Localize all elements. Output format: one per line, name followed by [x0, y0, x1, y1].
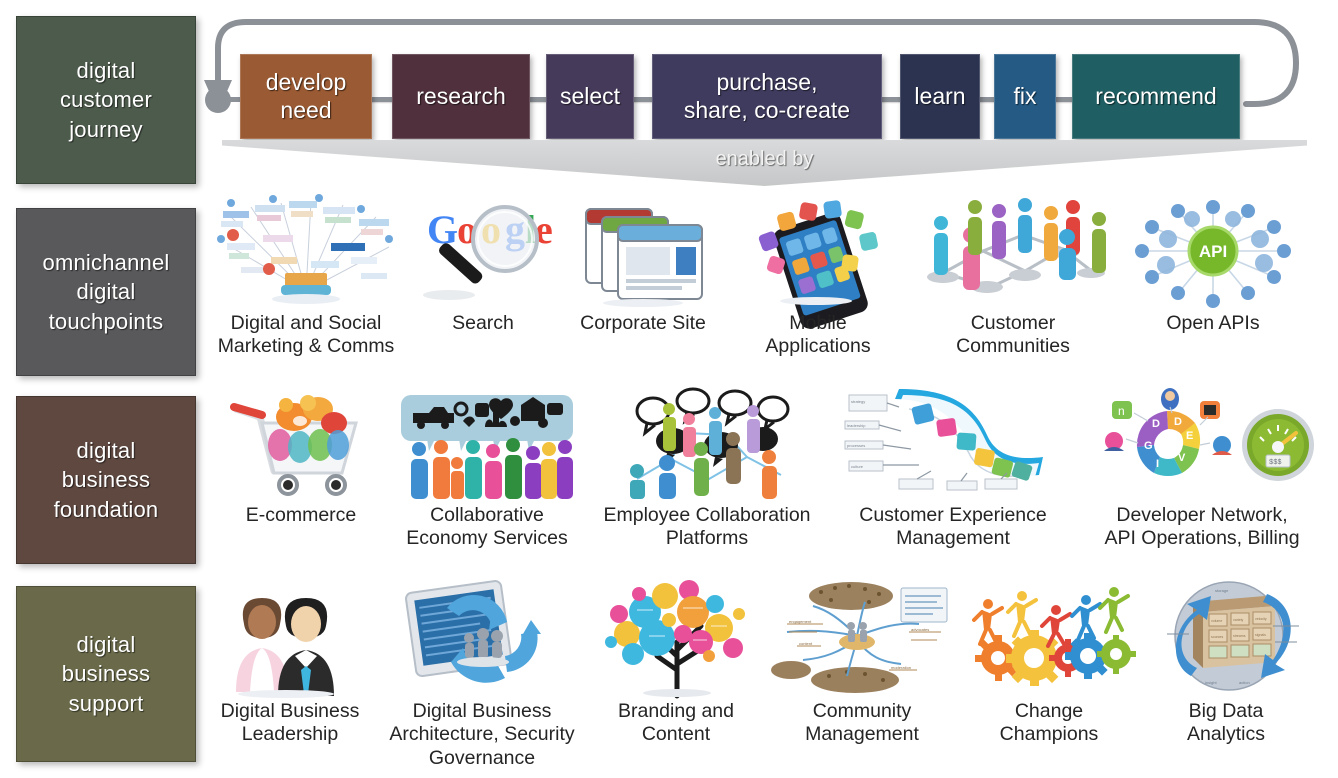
stage-label: recommend [1095, 83, 1216, 110]
item-open-apis[interactable]: API Open APIs [1118, 192, 1308, 335]
caption-line: Governance [429, 747, 535, 769]
caption-line: Management [805, 723, 919, 745]
caption-line: Marketing & Comms [218, 335, 395, 357]
category-line: omnichannel [43, 248, 170, 277]
svg-text:G: G [1144, 440, 1153, 452]
stage-connector [528, 97, 548, 102]
stage-connector [632, 97, 654, 102]
smartphone-apps-icon [738, 192, 898, 310]
journey-stage-recommend[interactable]: recommend [1072, 54, 1240, 139]
item-customer-communities[interactable]: Customer Communities [908, 192, 1118, 359]
caption-line: Customer [971, 312, 1056, 334]
stage-connector [1054, 97, 1074, 102]
svg-text:D: D [1174, 416, 1182, 428]
experience-journey-curve-icon: strategyleadership processesculture [843, 384, 1063, 502]
stage-connector [880, 97, 902, 102]
caption-line: Management [896, 527, 1010, 549]
item-caption: Mobile Applications [765, 312, 870, 359]
caption-line: Applications [765, 335, 870, 357]
item-employee-collaboration-platforms[interactable]: Employee Collaboration Platforms [582, 384, 832, 551]
svg-text:volume: volume [1211, 619, 1222, 623]
svg-text:insight: insight [1205, 680, 1217, 685]
item-big-data-analytics[interactable]: volumevarietyvelocity sourcesstreamssign… [1138, 578, 1314, 747]
category-omnichannel-digital-touchpoints: omnichannel digital touchpoints [16, 208, 196, 376]
caption-line: Platforms [666, 527, 748, 549]
item-caption: Employee Collaboration Platforms [603, 504, 810, 551]
caption-line: Employee Collaboration [603, 504, 810, 526]
category-digital-business-foundation: digital business foundation [16, 396, 196, 564]
community-mindmap-icon: engagementadvocates contentmoderation [769, 578, 955, 698]
caption-line: Digital and Social [231, 312, 382, 334]
item-digital-business-leadership[interactable]: Digital Business Leadership [204, 578, 376, 747]
journey-stage-purchase-share-co-create[interactable]: purchase, share, co-create [652, 54, 882, 139]
caption-line: Developer Network, [1116, 504, 1287, 526]
two-executives-icon [210, 578, 370, 698]
caption-line: Architecture, Security [389, 723, 574, 745]
enabled-by-label: enabled by [222, 148, 1307, 171]
caption-line: Analytics [1187, 723, 1265, 745]
runners-gears-icon [964, 578, 1134, 698]
category-line: support [62, 689, 150, 718]
row-digital-business-support: Digital Business Leadership [204, 578, 1334, 770]
item-caption: Customer Experience Management [859, 504, 1047, 551]
category-line: digital [43, 277, 170, 306]
item-developer-network-api-operations-billing[interactable]: DEV IGD n [1074, 384, 1330, 551]
enabled-by-banner: enabled by [222, 140, 1307, 186]
svg-text:E: E [1186, 430, 1193, 442]
svg-text:streams: streams [1233, 634, 1246, 638]
stage-label: purchase, [716, 69, 817, 95]
caption-line: Customer Experience [859, 504, 1047, 526]
developer-ring-gauge-icon: DEV IGD n [1082, 384, 1322, 502]
category-line: foundation [54, 495, 159, 524]
svg-text:V: V [1178, 452, 1186, 464]
row-omnichannel-digital-touchpoints: Digital and Social Marketing & Comms G o… [204, 192, 1328, 359]
svg-text:signals: signals [1255, 633, 1266, 637]
caption-line: Big Data [1189, 700, 1264, 722]
caption-line: Digital Business [221, 700, 360, 722]
svg-text:storage: storage [1215, 588, 1229, 593]
item-corporate-site[interactable]: Corporate Site [558, 192, 728, 335]
item-caption: Digital Business Leadership [221, 700, 360, 747]
category-line: journey [60, 115, 152, 144]
caption-line: Champions [1000, 723, 1099, 745]
item-e-commerce[interactable]: E-commerce [210, 384, 392, 527]
shopping-cart-icon [216, 384, 386, 502]
svg-text:strategy: strategy [851, 399, 865, 404]
caption-line: API Operations, Billing [1104, 527, 1299, 549]
journey-stage-fix[interactable]: fix [994, 54, 1056, 139]
item-caption: Digital and Social Marketing & Comms [218, 312, 395, 359]
svg-text:action: action [1239, 680, 1250, 685]
row-digital-business-foundation: E-commerce [210, 384, 1330, 551]
category-line: business [54, 465, 159, 494]
item-mobile-applications[interactable]: Mobile Applications [728, 192, 908, 359]
item-digital-and-social-marketing[interactable]: Digital and Social Marketing & Comms [204, 192, 408, 359]
item-search[interactable]: G o o g l e Search [408, 192, 558, 335]
svg-text:n: n [1118, 404, 1125, 418]
item-community-management[interactable]: engagementadvocates contentmoderation Co… [764, 578, 960, 747]
stage-label: develop [266, 69, 347, 95]
svg-text:sources: sources [1211, 635, 1224, 639]
caption-line: Content [642, 723, 710, 745]
category-line: touchpoints [43, 307, 170, 336]
item-caption: Change Champions [1000, 700, 1099, 747]
caption-line: Mobile [789, 312, 846, 334]
category-line: customer [60, 85, 152, 114]
journey-stage-learn[interactable]: learn [900, 54, 980, 139]
caption-line: E-commerce [246, 504, 357, 526]
svg-text:content: content [799, 641, 813, 646]
item-caption: Big Data Analytics [1187, 700, 1265, 747]
api-hub-icon: API [1128, 192, 1298, 310]
caption-line: Search [452, 312, 514, 334]
stage-label: fix [1014, 83, 1037, 110]
item-caption: Corporate Site [580, 312, 706, 335]
item-digital-business-architecture-security-governance[interactable]: Digital Business Architecture, Security … [376, 578, 588, 770]
item-collaborative-economy-services[interactable]: Collaborative Economy Services [392, 384, 582, 551]
svg-text:D: D [1152, 418, 1160, 430]
caption-line: Open APIs [1166, 312, 1259, 334]
svg-text:API: API [1199, 242, 1227, 261]
stage-label: select [560, 83, 620, 110]
category-line: digital [60, 56, 152, 85]
svg-text:culture: culture [851, 464, 864, 469]
item-caption: Branding and Content [618, 700, 734, 747]
category-line: digital [62, 630, 150, 659]
architecture-cycle-icon [387, 578, 577, 698]
caption-line: Economy Services [406, 527, 567, 549]
item-customer-experience-management[interactable]: strategyleadership processesculture [832, 384, 1074, 551]
caption-line: Collaborative [430, 504, 544, 526]
svg-text:velocity: velocity [1255, 617, 1267, 621]
social-marketing-mindmap-icon [211, 192, 401, 310]
category-line: business [62, 659, 150, 688]
diagram-canvas: digital customer journey omnichannel dig… [0, 0, 1338, 778]
svg-text:advocates: advocates [911, 627, 929, 632]
google-magnifier-icon: G o o g l e [413, 192, 553, 310]
journey-stage-select[interactable]: select [546, 54, 634, 139]
caption-line: Leadership [242, 723, 339, 745]
caption-line: Corporate Site [580, 312, 706, 334]
stage-label: need [280, 97, 331, 123]
item-caption: Community Management [805, 700, 919, 747]
caption-line: Community [813, 700, 912, 722]
item-caption: Digital Business Architecture, Security … [389, 700, 574, 770]
svg-text:$$$: $$$ [1269, 459, 1282, 467]
caption-line: Digital Business [413, 700, 552, 722]
journey-stage-research[interactable]: research [392, 54, 530, 139]
journey-stage-develop-need[interactable]: develop need [240, 54, 372, 139]
web-pages-stack-icon [568, 192, 718, 310]
sharing-crowd-icon [397, 384, 577, 502]
item-caption: Collaborative Economy Services [406, 504, 567, 551]
item-caption: Search [452, 312, 514, 335]
content-tree-icon [593, 578, 759, 698]
speech-bubbles-people-icon [617, 384, 797, 502]
category-digital-customer-journey: digital customer journey [16, 16, 196, 184]
item-change-champions[interactable]: Change Champions [960, 578, 1138, 747]
item-caption: Developer Network, API Operations, Billi… [1104, 504, 1299, 551]
stage-connector [370, 97, 394, 102]
category-line: digital [54, 436, 159, 465]
svg-text:I: I [1156, 458, 1159, 470]
caption-line: Branding and [618, 700, 734, 722]
item-branding-and-content[interactable]: Branding and Content [588, 578, 764, 747]
item-caption: E-commerce [246, 504, 357, 527]
caption-line: Communities [956, 335, 1070, 357]
caption-line: Change [1015, 700, 1083, 722]
svg-text:moderation: moderation [891, 665, 911, 670]
svg-text:processes: processes [847, 443, 865, 448]
item-caption: Customer Communities [956, 312, 1070, 359]
people-network-icon [913, 192, 1113, 310]
item-caption: Open APIs [1166, 312, 1259, 335]
category-digital-business-support: digital business support [16, 586, 196, 762]
stage-label: share, co-create [684, 97, 850, 123]
svg-text:variety: variety [1233, 618, 1244, 622]
stage-label: learn [914, 83, 965, 110]
data-layers-sphere-icon: volumevarietyvelocity sourcesstreamssign… [1143, 578, 1309, 698]
svg-text:leadership: leadership [847, 423, 866, 428]
stage-label: research [416, 83, 505, 110]
svg-text:engagement: engagement [789, 619, 812, 624]
